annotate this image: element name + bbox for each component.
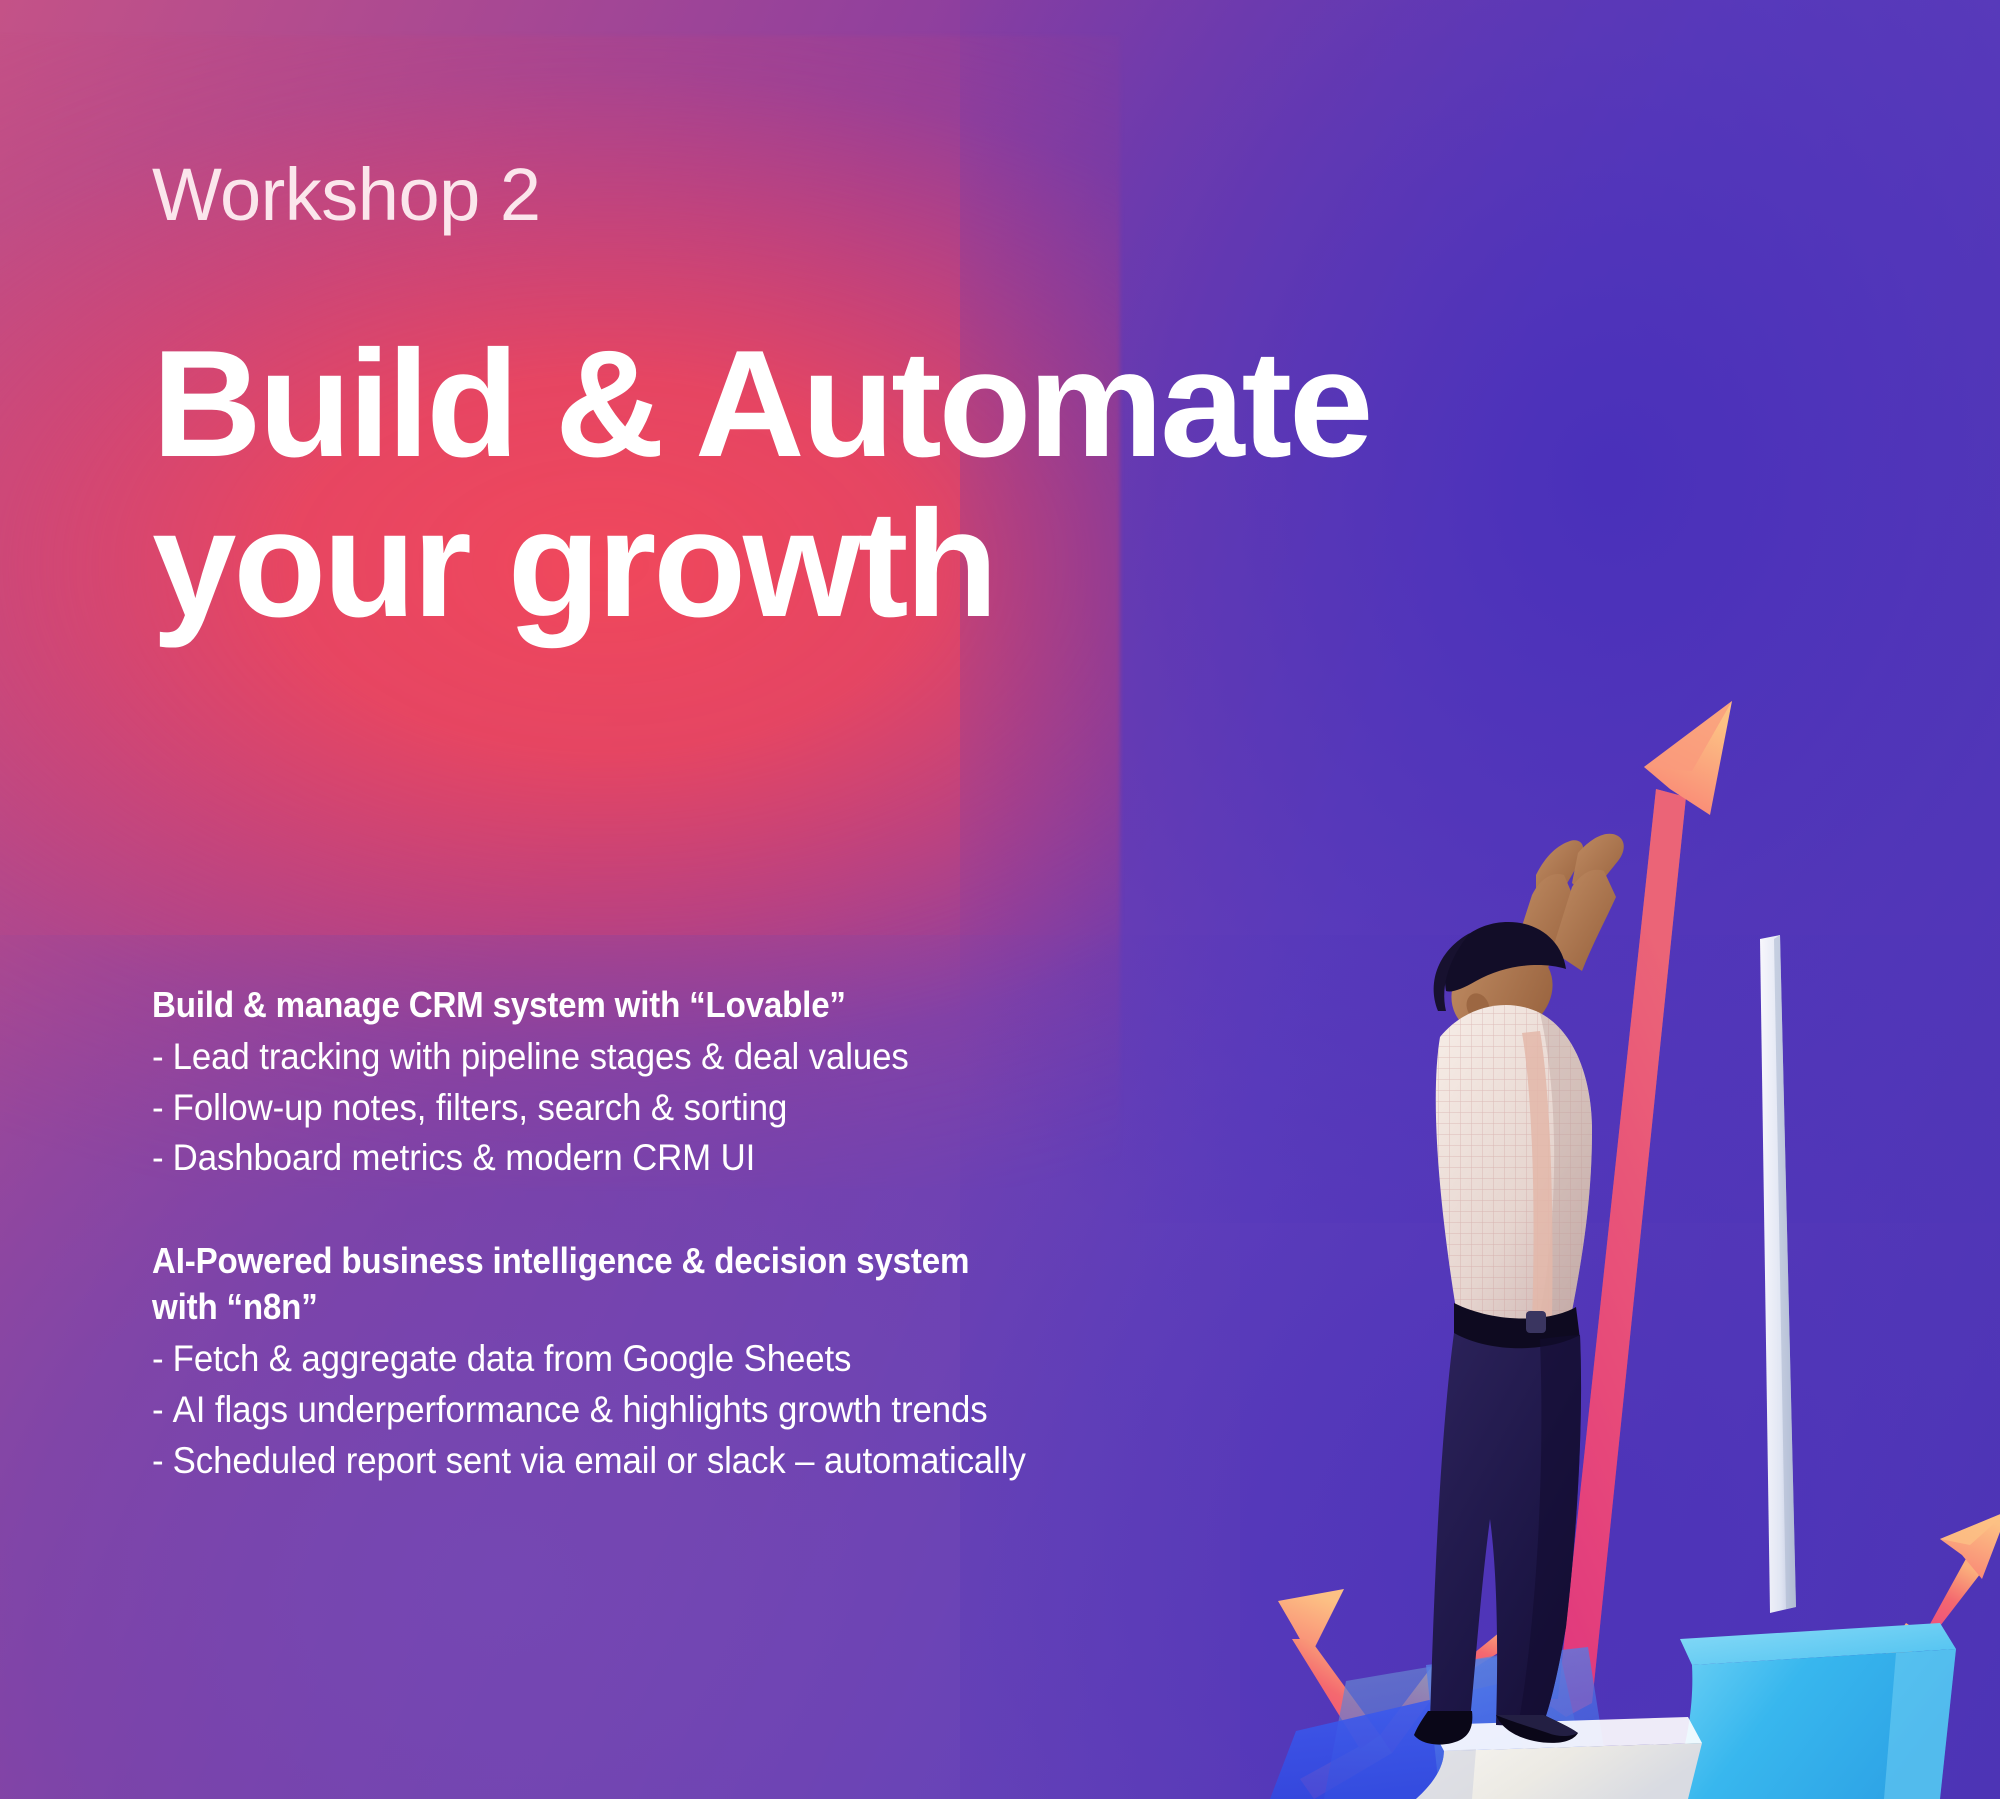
- bullet-dash-icon: -: [152, 1133, 173, 1184]
- growth-illustration: [1240, 639, 2000, 1799]
- text-content: Workshop 2 Build & Automate your growth …: [0, 0, 1160, 1799]
- bullet-text: Fetch & aggregate data from Google Sheet…: [173, 1334, 852, 1385]
- headline-line-1: Build & Automate: [152, 325, 1872, 485]
- bullet-text: Follow-up notes, filters, search & sorti…: [173, 1083, 788, 1134]
- bullet-dash-icon: -: [152, 1334, 173, 1385]
- bullet-list-ai-bi: - Fetch & aggregate data from Google She…: [152, 1334, 1172, 1486]
- white-vertical-bar: [1760, 935, 1796, 1613]
- workshop-kicker: Workshop 2: [152, 158, 541, 232]
- cyan-pedestal: [1668, 1623, 1956, 1799]
- bullet-dash-icon: -: [152, 1032, 173, 1083]
- block-title-crm: Build & manage CRM system with “Lovable”: [152, 982, 1090, 1028]
- list-item: - Fetch & aggregate data from Google She…: [152, 1334, 1111, 1385]
- bullet-text: AI flags underperformance & highlights g…: [173, 1385, 988, 1436]
- bullet-text: Lead tracking with pipeline stages & dea…: [173, 1032, 909, 1083]
- bullet-dash-icon: -: [152, 1083, 173, 1134]
- bullet-dash-icon: -: [152, 1436, 173, 1487]
- list-item: - Lead tracking with pipeline stages & d…: [152, 1032, 1111, 1083]
- bullet-dash-icon: -: [152, 1385, 173, 1436]
- slide-canvas: Workshop 2 Build & Automate your growth …: [0, 0, 2000, 1799]
- bullet-text: Dashboard metrics & modern CRM UI: [173, 1133, 756, 1184]
- list-item: - Scheduled report sent via email or sla…: [152, 1436, 1111, 1487]
- agenda-blocks: Build & manage CRM system with “Lovable”…: [152, 982, 1172, 1486]
- agenda-block-ai-bi: AI-Powered business intelligence & decis…: [152, 1238, 1172, 1486]
- list-item: - Dashboard metrics & modern CRM UI: [152, 1133, 1111, 1184]
- list-item: - Follow-up notes, filters, search & sor…: [152, 1083, 1111, 1134]
- block-title-ai-bi: AI-Powered business intelligence & decis…: [152, 1238, 1090, 1330]
- headline-line-2: your growth: [152, 485, 1872, 645]
- page-title: Build & Automate your growth: [152, 325, 1872, 644]
- list-item: - AI flags underperformance & highlights…: [152, 1385, 1111, 1436]
- agenda-block-crm: Build & manage CRM system with “Lovable”…: [152, 982, 1172, 1184]
- bullet-text: Scheduled report sent via email or slack…: [173, 1436, 1026, 1487]
- bullet-list-crm: - Lead tracking with pipeline stages & d…: [152, 1032, 1172, 1184]
